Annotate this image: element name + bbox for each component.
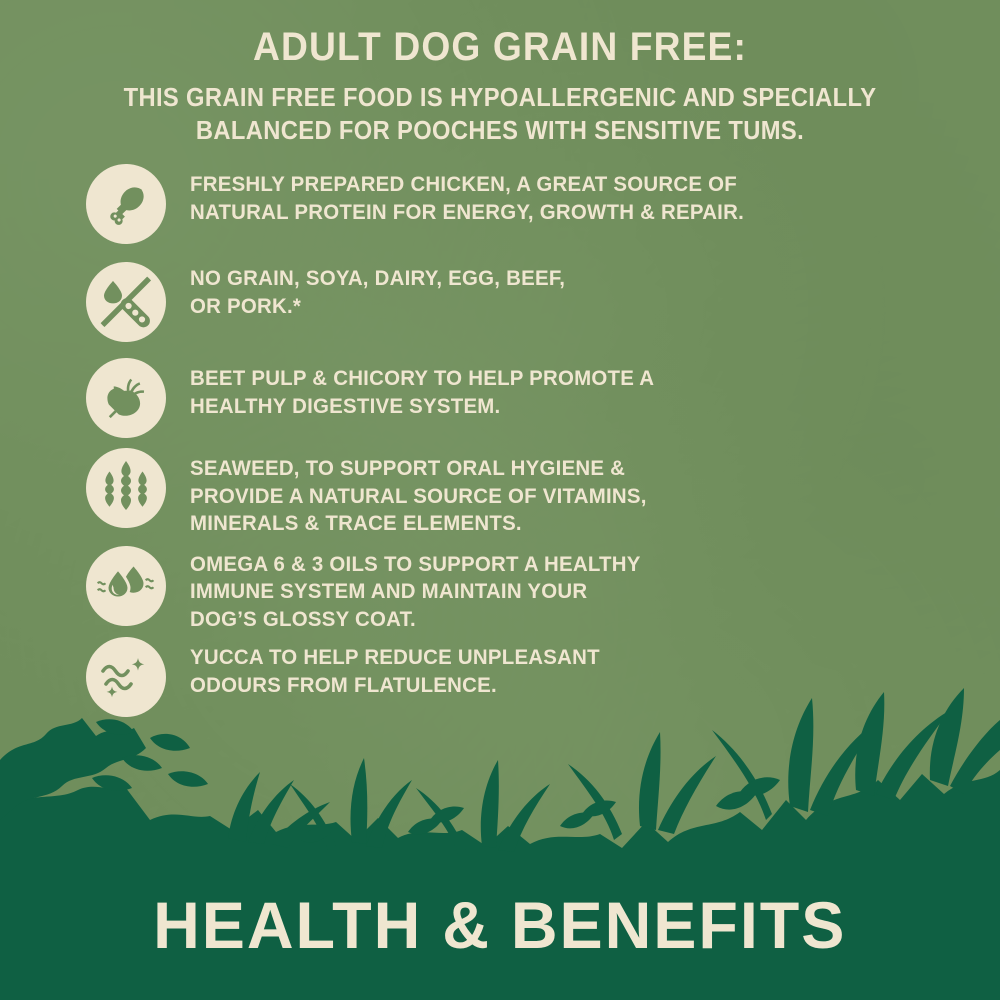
chicken-drumstick-icon [86, 164, 166, 244]
beetroot-icon [86, 358, 166, 438]
page-title: ADULT DOG GRAIN FREE: [35, 26, 965, 68]
page-subtitle: THIS GRAIN FREE FOOD IS HYPOALLERGENIC A… [54, 82, 947, 148]
benefit-label: YUCCA TO HELP REDUCE UNPLEASANT ODOURS F… [190, 635, 600, 699]
health-benefits-panel: ADULT DOG GRAIN FREE: THIS GRAIN FREE FO… [0, 0, 1000, 1000]
seaweed-icon [86, 448, 166, 528]
benefit-item-chicken: FRESHLY PREPARED CHICKEN, A GREAT SOURCE… [86, 162, 1000, 244]
omega-oil-droplets-icon [86, 546, 166, 626]
footer-title: HEALTH & BENEFITS [153, 892, 846, 958]
benefit-item-no-grain: NO GRAIN, SOYA, DAIRY, EGG, BEEF, OR POR… [86, 256, 1000, 342]
benefit-label: BEET PULP & CHICORY TO HELP PROMOTE A HE… [190, 356, 654, 420]
benefits-list: FRESHLY PREPARED CHICKEN, A GREAT SOURCE… [0, 162, 1000, 717]
benefit-item-yucca-odour: YUCCA TO HELP REDUCE UNPLEASANT ODOURS F… [86, 635, 1000, 717]
odour-waves-icon [86, 637, 166, 717]
benefit-item-seaweed: SEAWEED, TO SUPPORT ORAL HYGIENE & PROVI… [86, 446, 1000, 538]
header: ADULT DOG GRAIN FREE: THIS GRAIN FREE FO… [0, 0, 1000, 148]
no-grain-dairy-soya-icon [86, 262, 166, 342]
benefit-label: NO GRAIN, SOYA, DAIRY, EGG, BEEF, OR POR… [190, 256, 565, 320]
benefit-label: SEAWEED, TO SUPPORT ORAL HYGIENE & PROVI… [190, 446, 647, 538]
benefit-item-omega-oils: OMEGA 6 & 3 OILS TO SUPPORT A HEALTHY IM… [86, 542, 1000, 634]
benefit-item-beet-pulp: BEET PULP & CHICORY TO HELP PROMOTE A HE… [86, 356, 1000, 438]
benefit-label: FRESHLY PREPARED CHICKEN, A GREAT SOURCE… [190, 162, 744, 226]
footer-banner: HEALTH & BENEFITS [0, 850, 1000, 1000]
benefit-label: OMEGA 6 & 3 OILS TO SUPPORT A HEALTHY IM… [190, 542, 641, 634]
